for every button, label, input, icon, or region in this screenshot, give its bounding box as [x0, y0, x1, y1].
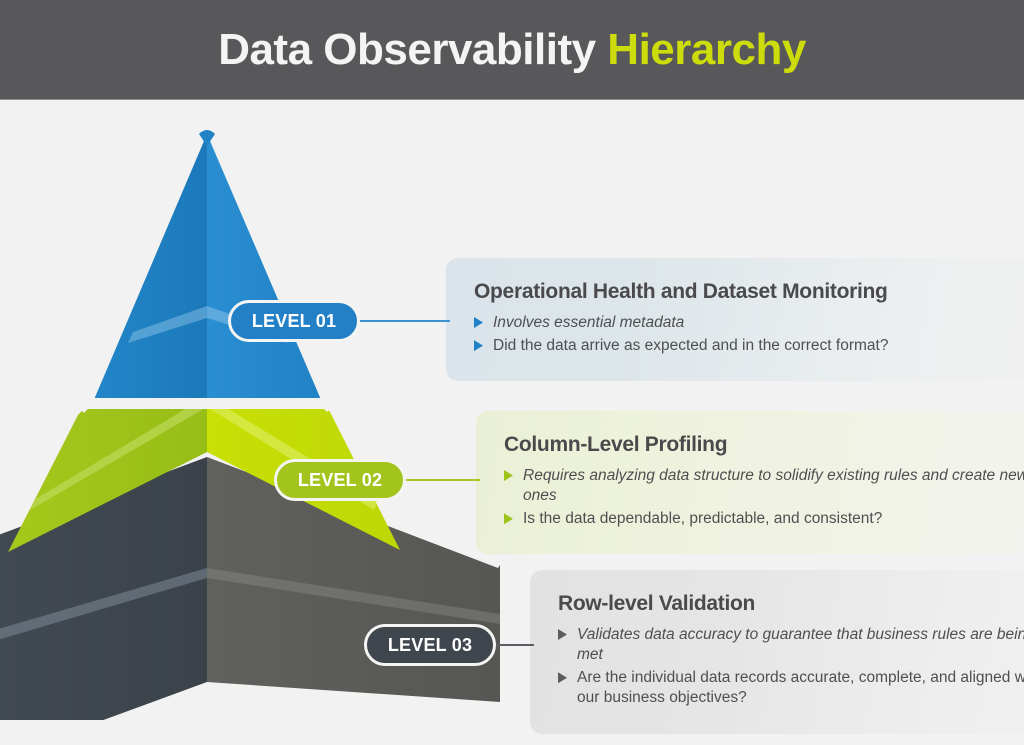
bullet-triangle-icon [504, 470, 513, 481]
bullet-triangle-icon [474, 340, 483, 351]
level-badge-1[interactable]: LEVEL 01 [228, 300, 360, 342]
header-bar: Data Observability Hierarchy [0, 0, 1024, 100]
bullet-text: Is the data dependable, predictable, and… [523, 509, 882, 529]
bullet-text: Are the individual data records accurate… [577, 668, 1024, 708]
level-badge-3-label: LEVEL 03 [388, 635, 472, 656]
level-panel-2-bullets: Requires analyzing data structure to sol… [504, 466, 1024, 529]
bullet-triangle-icon [558, 672, 567, 683]
page-title-main: Data Observability [218, 25, 595, 74]
list-item: Is the data dependable, predictable, and… [504, 509, 1024, 529]
bullet-triangle-icon [558, 629, 567, 640]
bullet-triangle-icon [504, 513, 513, 524]
connector-line-level-1 [356, 320, 450, 322]
level-panel-2: Column-Level Profiling Requires analyzin… [476, 411, 1024, 554]
page-title: Data Observability Hierarchy [218, 25, 806, 75]
level-badge-3[interactable]: LEVEL 03 [364, 624, 496, 666]
level-badge-2-label: LEVEL 02 [298, 470, 382, 491]
level-panel-1: Operational Health and Dataset Monitorin… [446, 258, 1024, 381]
list-item: Validates data accuracy to guarantee tha… [558, 625, 1024, 665]
list-item: Did the data arrive as expected and in t… [474, 336, 1024, 356]
level-badge-2[interactable]: LEVEL 02 [274, 459, 406, 501]
list-item: Are the individual data records accurate… [558, 668, 1024, 708]
bullet-text: Requires analyzing data structure to sol… [523, 466, 1024, 506]
level-badge-1-label: LEVEL 01 [252, 311, 336, 332]
bullet-triangle-icon [474, 317, 483, 328]
connector-line-level-2 [402, 479, 480, 481]
level-panel-3: Row-level Validation Validates data accu… [530, 570, 1024, 734]
page-title-accent: Hierarchy [607, 25, 806, 74]
connector-line-level-3 [492, 644, 534, 646]
level-panel-3-title: Row-level Validation [558, 592, 1024, 616]
bullet-text: Did the data arrive as expected and in t… [493, 336, 888, 356]
level-panel-2-title: Column-Level Profiling [504, 433, 1024, 457]
infographic-stage: LEVEL 01 LEVEL 02 LEVEL 03 Operational H… [0, 100, 1024, 745]
level-panel-1-bullets: Involves essential metadata Did the data… [474, 313, 1024, 356]
level-panel-1-title: Operational Health and Dataset Monitorin… [474, 280, 1024, 304]
bullet-text: Involves essential metadata [493, 313, 684, 333]
list-item: Involves essential metadata [474, 313, 1024, 333]
list-item: Requires analyzing data structure to sol… [504, 466, 1024, 506]
level-panel-3-bullets: Validates data accuracy to guarantee tha… [558, 625, 1024, 709]
bullet-text: Validates data accuracy to guarantee tha… [577, 625, 1024, 665]
